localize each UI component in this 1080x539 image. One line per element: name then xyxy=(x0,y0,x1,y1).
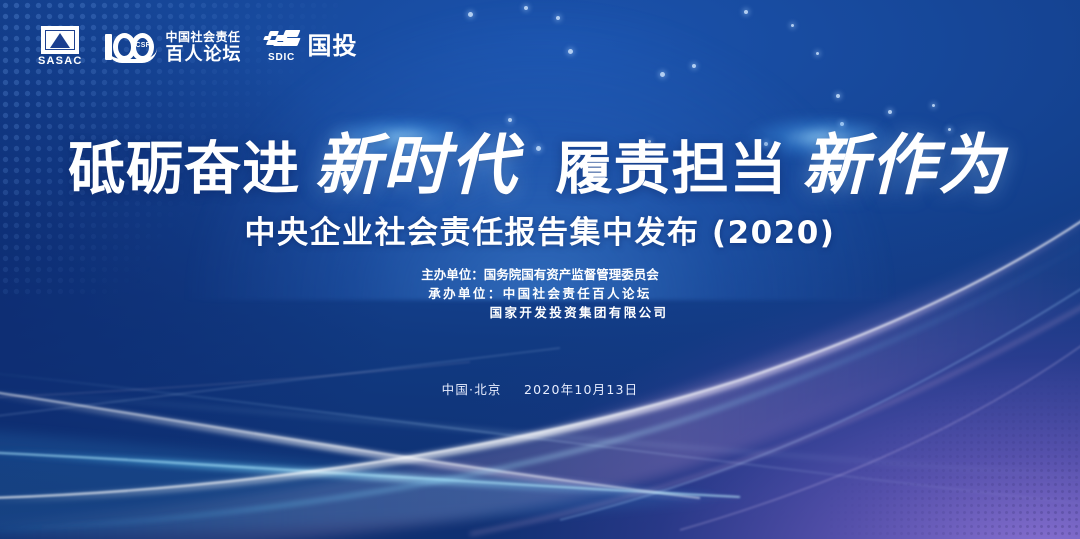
host-row: 主办单位：国务院国有资产监督管理委员会 xyxy=(0,265,1080,284)
sasac-wordmark: SASAC xyxy=(38,55,83,67)
logo-row: SASAC CSR 中国社会责任 百人论坛 xyxy=(38,26,358,67)
csr-forum-name: 中国社会责任 百人论坛 xyxy=(166,31,242,63)
csr-forum-line2: 百人论坛 xyxy=(166,45,242,63)
triangle-in-square-icon xyxy=(41,26,79,54)
organizer-value-2: 国家开发投资集团有限公司 xyxy=(490,305,669,320)
sdic-logo[interactable]: SDIC 国投 xyxy=(264,30,358,63)
headline-accent-1: 新时代 xyxy=(315,112,519,208)
host-value: 国务院国有资产监督管理委员会 xyxy=(484,267,659,282)
host-label: 主办单位： xyxy=(421,267,484,282)
pixel-wave-icon xyxy=(264,30,300,50)
csr-inner-label: CSR xyxy=(136,42,151,49)
sdic-wordmark: SDIC xyxy=(268,52,295,63)
event-location: 中国·北京 xyxy=(442,382,502,397)
sdic-chinese-name: 国投 xyxy=(308,35,358,59)
headline: 砥砺奋进 新时代 履责担当 新作为 xyxy=(0,112,1080,208)
poster-canvas: SASAC CSR 中国社会责任 百人论坛 xyxy=(0,0,1080,539)
event-date: 2020年10月13日 xyxy=(524,382,638,397)
organizer-value: 中国社会责任百人论坛 xyxy=(503,286,652,301)
headline-segment-2: 履责担当 xyxy=(555,123,787,205)
subtitle: 中央企业社会责任报告集中发布 (2020) xyxy=(0,207,1080,252)
sdic-mark-group: SDIC xyxy=(264,30,300,63)
csr-100-forum-logo[interactable]: CSR 中国社会责任 百人论坛 xyxy=(105,31,242,63)
hundred-numeral-icon: CSR xyxy=(105,31,159,63)
event-footer: 中国·北京 2020年10月13日 xyxy=(0,379,1080,398)
organizer-label: 承办单位： xyxy=(428,286,503,301)
sasac-logo[interactable]: SASAC xyxy=(38,26,83,67)
organizer-block: 主办单位：国务院国有资产监督管理委员会 承办单位：中国社会责任百人论坛 国家开发… xyxy=(0,265,1080,322)
organizer-row-2: 国家开发投资集团有限公司 xyxy=(0,303,1080,322)
headline-segment-1: 砥砺奋进 xyxy=(68,123,300,205)
headline-accent-2: 新作为 xyxy=(802,112,1006,208)
organizer-row: 承办单位：中国社会责任百人论坛 xyxy=(0,284,1080,303)
csr-forum-line1: 中国社会责任 xyxy=(166,31,242,43)
